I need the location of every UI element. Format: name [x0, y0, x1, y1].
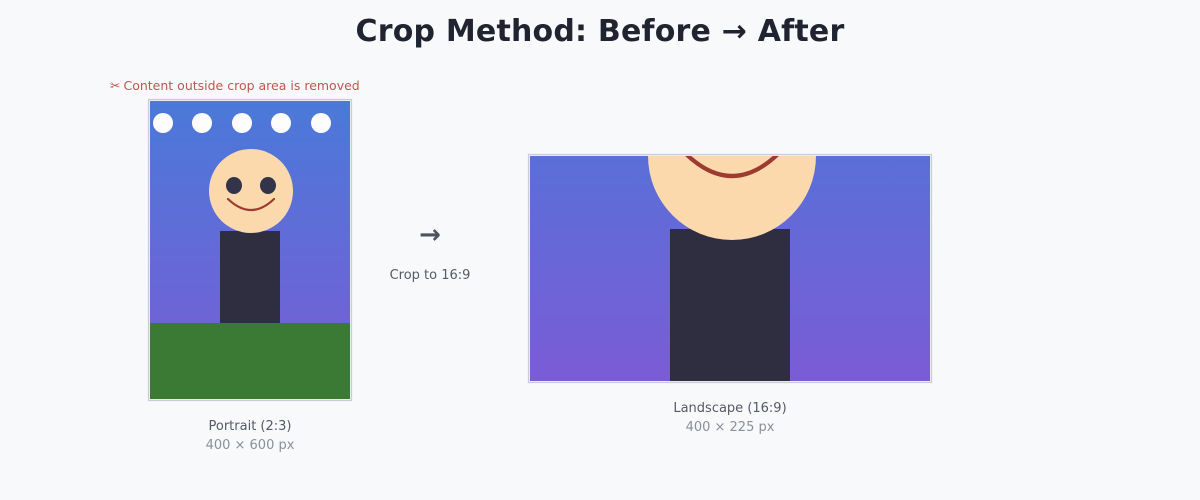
after-image-frame — [528, 154, 932, 383]
right-eye-shape — [260, 177, 276, 194]
cloud-dot-icon — [232, 113, 252, 133]
cloud-dot-icon — [153, 113, 173, 133]
cloud-dot-icon — [192, 113, 212, 133]
before-caption-title: Portrait (2:3) — [148, 417, 352, 436]
cloud-dot-icon — [271, 113, 291, 133]
crop-annotation-label: Content outside crop area is removed — [123, 78, 359, 93]
after-panel: Landscape (16:9) 400 × 225 px — [528, 154, 932, 383]
before-image-frame — [148, 99, 352, 401]
before-caption-size: 400 × 600 px — [148, 436, 352, 455]
smile-shape — [682, 156, 782, 198]
scissors-icon: ✂ — [110, 78, 120, 93]
transform-label: Crop to 16:9 — [370, 268, 490, 283]
before-panel: Portrait (2:3) 400 × 600 px — [148, 99, 352, 401]
transform-arrow-block: → Crop to 16:9 — [370, 222, 490, 283]
torso-shape — [220, 231, 280, 323]
torso-shape — [670, 229, 790, 381]
after-caption-title: Landscape (16:9) — [528, 399, 932, 418]
after-canvas — [530, 156, 930, 381]
arrow-right-icon: → — [370, 222, 490, 248]
left-eye-shape — [226, 177, 242, 194]
smile-shape — [226, 195, 276, 221]
before-caption: Portrait (2:3) 400 × 600 px — [148, 417, 352, 455]
after-caption-size: 400 × 225 px — [528, 418, 932, 437]
crop-annotation: ✂Content outside crop area is removed — [110, 78, 360, 93]
page-title: Crop Method: Before → After — [0, 14, 1200, 49]
cloud-dot-icon — [311, 113, 331, 133]
after-caption: Landscape (16:9) 400 × 225 px — [528, 399, 932, 437]
ground-band — [150, 323, 350, 399]
before-canvas — [150, 101, 350, 399]
